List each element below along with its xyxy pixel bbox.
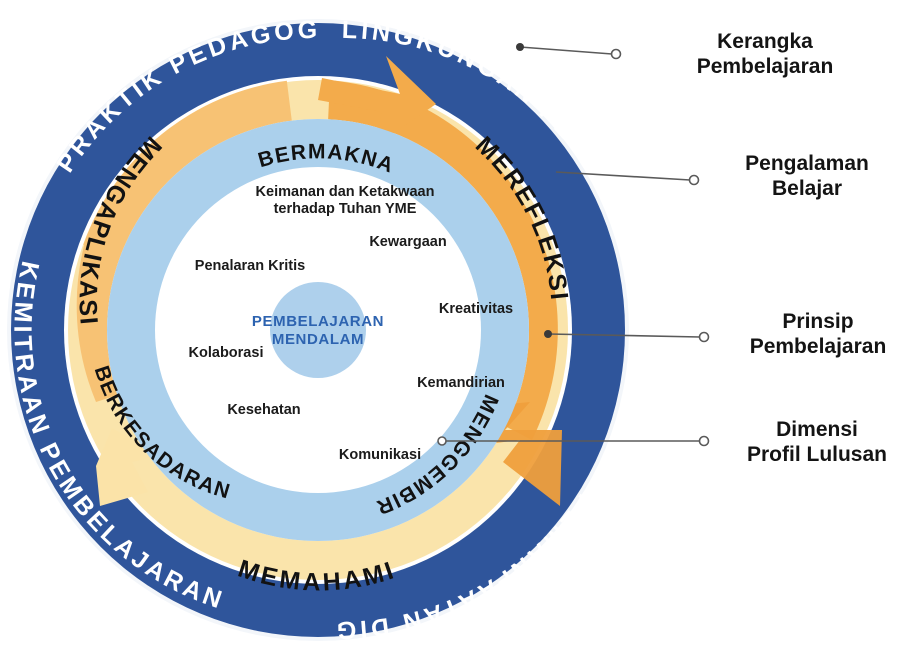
dimension-kemandirian: Kemandirian [417,375,505,391]
callout-kerangka-line2: Pembelajaran [665,55,865,80]
callout-prinsip-pembelajaran[interactable]: Prinsip Pembelajaran [718,310,914,360]
dimension-komunikasi: Komunikasi [339,447,421,463]
core-label-line2: MENDALAM [272,331,364,348]
leader-prinsip-anchor [544,330,552,338]
dimension-penalaran-kritis: Penalaran Kritis [195,258,305,274]
callout-kerangka-pembelajaran[interactable]: Kerangka Pembelajaran [665,30,865,80]
callout-dimensi-profil-lulusan[interactable]: Dimensi Profil Lulusan [722,418,912,468]
leader-pengalaman-dot [690,176,699,185]
leader-dimensi-anchor [438,437,446,445]
dimension-keimanan-line2: terhadap Tuhan YME [274,201,417,217]
leader-kerangka-anchor [516,43,524,51]
callout-pengalaman-belajar[interactable]: Pengalaman Belajar [712,152,902,202]
callout-prinsip-line1: Prinsip [718,310,914,335]
core-circle[interactable] [270,282,366,378]
callout-pengalaman-line2: Belajar [712,177,902,202]
dimension-keimanan-line1: Keimanan dan Ketakwaan [256,184,435,200]
callout-dimensi-line1: Dimensi [722,418,912,443]
dimension-kewargaan: Kewargaan [369,234,446,250]
core-label-line1: PEMBELAJARAN [252,313,384,330]
callout-pengalaman-line1: Pengalaman [712,152,902,177]
callout-kerangka-line1: Kerangka [665,30,865,55]
diagram-canvas: PRAKTIK PEDAGOGIS LINGKUNGAN PEMBELAJARA… [0,0,914,659]
callout-prinsip-line2: Pembelajaran [718,335,914,360]
dimension-kreativitas: Kreativitas [439,301,513,317]
leader-prinsip-dot [700,333,709,342]
dimension-kesehatan: Kesehatan [227,402,300,418]
dimension-kolaborasi: Kolaborasi [189,345,264,361]
callout-dimensi-line2: Profil Lulusan [722,443,912,468]
leader-kerangka-dot [612,50,621,59]
leader-kerangka [520,47,612,54]
leader-dimensi-dot [700,437,709,446]
